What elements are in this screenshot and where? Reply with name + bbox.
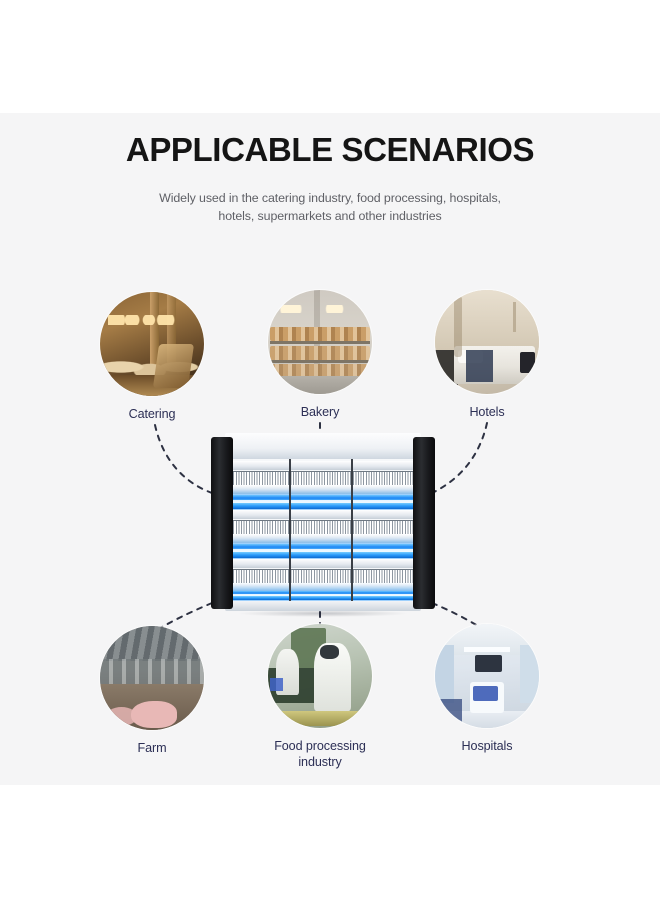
lamp-support-wire xyxy=(351,459,353,601)
scenario-catering[interactable]: Catering xyxy=(92,292,212,423)
lamp-left-pillar xyxy=(211,437,233,609)
scenario-image-hotels xyxy=(435,290,539,394)
scenario-label-farm: Farm xyxy=(92,741,212,757)
scenario-image-catering xyxy=(100,292,204,396)
insect-killer-lamp xyxy=(207,433,439,613)
scenario-hospitals[interactable]: Hospitals xyxy=(427,624,547,755)
scenario-image-farm xyxy=(100,626,204,730)
lamp-uv-tube xyxy=(229,495,417,509)
lamp-top-cover xyxy=(225,433,421,461)
header: APPLICABLE SCENARIOS Widely used in the … xyxy=(0,132,660,226)
lamp-shadow xyxy=(237,610,409,617)
lamp-grid-body xyxy=(229,459,417,601)
scenario-label-hotels: Hotels xyxy=(427,405,547,421)
page-title: APPLICABLE SCENARIOS xyxy=(0,132,660,168)
lamp-mesh-grid xyxy=(229,520,417,535)
lamp-base-tray xyxy=(225,601,421,611)
scenario-hotels[interactable]: Hotels xyxy=(427,290,547,421)
scenario-food-processing[interactable]: Food processing industry xyxy=(260,624,380,770)
lamp-right-pillar xyxy=(413,437,435,609)
page-subtitle: Widely used in the catering industry, fo… xyxy=(150,190,510,226)
lamp-mesh-grid xyxy=(229,569,417,584)
scenario-bakery[interactable]: Bakery xyxy=(260,290,380,421)
lamp-uv-tube xyxy=(229,544,417,558)
lamp-uv-tube xyxy=(229,591,417,600)
scenario-image-hospitals xyxy=(435,624,539,728)
scenario-label-food-processing: Food processing industry xyxy=(260,739,380,770)
restaurant-interior-photo xyxy=(100,292,204,396)
scenario-farm[interactable]: Farm xyxy=(92,626,212,757)
lamp-support-wire xyxy=(289,459,291,601)
scenario-label-catering: Catering xyxy=(92,407,212,423)
pig-farm-barn-photo xyxy=(100,626,204,730)
hospital-ward-photo xyxy=(435,624,539,728)
scenario-image-bakery xyxy=(268,290,372,394)
scenario-label-hospitals: Hospitals xyxy=(427,739,547,755)
scenario-image-food-processing xyxy=(268,624,372,728)
lamp-mesh-grid xyxy=(229,471,417,486)
food-processing-plant-photo xyxy=(268,624,372,728)
page-root: APPLICABLE SCENARIOS Widely used in the … xyxy=(0,0,660,900)
scenario-label-bakery: Bakery xyxy=(260,405,380,421)
bakery-shelves-photo xyxy=(268,290,372,394)
hotel-bedroom-photo xyxy=(435,290,539,394)
